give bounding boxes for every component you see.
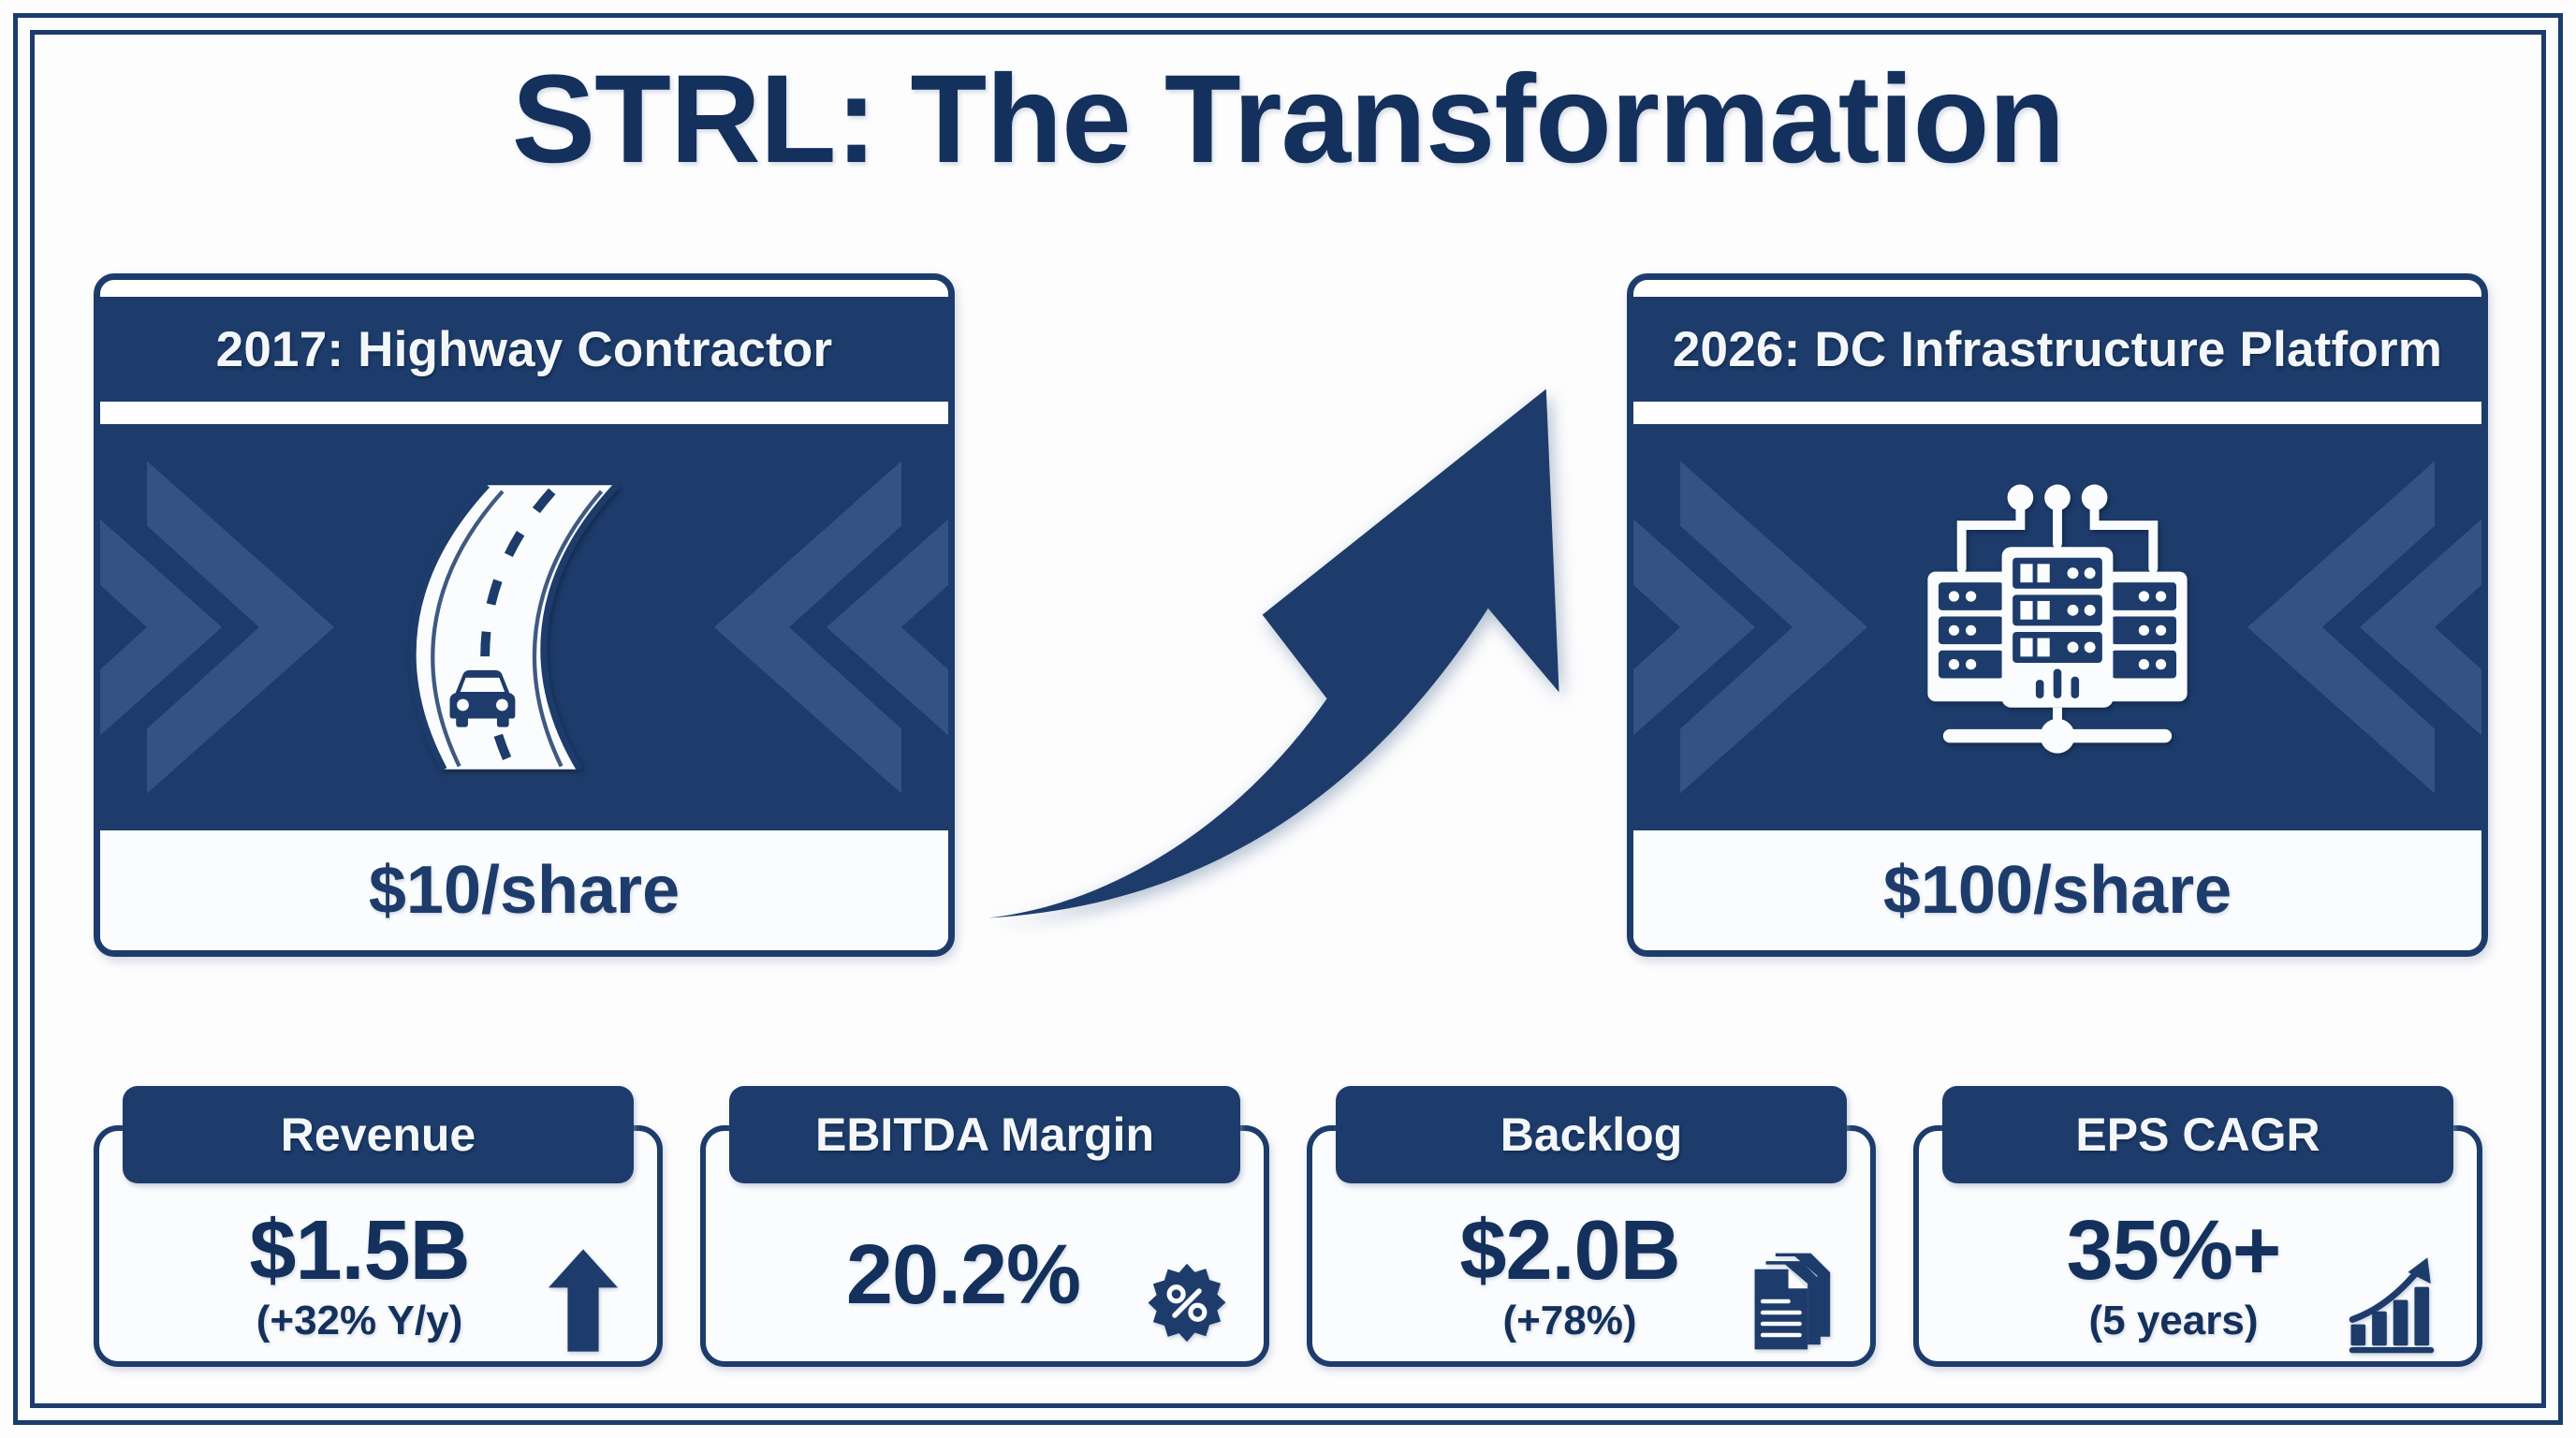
curved-growth-arrow-icon [973, 363, 1629, 944]
stat-label: Revenue [281, 1108, 476, 1162]
panel-header-label: 2026: DC Infrastructure Platform [1673, 321, 2442, 378]
chevron-pattern-left-icon [100, 424, 372, 830]
stat-value: 20.2% [846, 1233, 1080, 1317]
stat-sublabel: (+78%) [1502, 1300, 1636, 1342]
stat-card-header: EBITDA Margin [729, 1086, 1240, 1183]
infographic-poster: STRL: The Transformation 2017: Highway C… [0, 0, 2576, 1438]
panel-body-2017 [100, 424, 948, 830]
stat-card-revenue[interactable]: Revenue $1.5B (+32% Y/y) [94, 1086, 663, 1367]
document-stack-icon [1747, 1249, 1837, 1354]
panel-header-2026: 2026: DC Infrastructure Platform [1633, 297, 2481, 402]
panel-header-label: 2017: Highway Contractor [216, 321, 833, 378]
chevron-pattern-right-icon [677, 424, 948, 830]
stat-card-eps-cagr[interactable]: EPS CAGR 35%+ (5 years) [1913, 1086, 2482, 1367]
panel-header-2017: 2017: Highway Contractor [100, 297, 948, 402]
stat-label: Backlog [1500, 1108, 1683, 1162]
state-panel-2017: 2017: Highway Contractor [94, 273, 955, 957]
page-title: STRL: The Transformation [0, 54, 2576, 186]
stat-value: $1.5B [249, 1209, 469, 1293]
stat-label: EPS CAGR [2075, 1108, 2320, 1162]
highway-road-with-car-icon [370, 473, 679, 782]
stat-card-ebitda-margin[interactable]: EBITDA Margin 20.2% [700, 1086, 1269, 1367]
data-center-server-racks-icon [1903, 473, 2212, 782]
chevron-pattern-left-icon [1633, 424, 1905, 830]
panel-footer-2017: $10/share [100, 830, 948, 950]
stat-value: 35%+ [2067, 1209, 2281, 1293]
gear-percent-icon [1138, 1255, 1236, 1352]
chevron-pattern-right-icon [2210, 424, 2481, 830]
stat-sublabel: (+32% Y/y) [256, 1300, 463, 1342]
stat-card-header: EPS CAGR [1942, 1086, 2453, 1183]
panel-body-2026 [1633, 424, 2481, 830]
stat-card-header: Revenue [123, 1086, 634, 1183]
panel-footer-2026: $100/share [1633, 830, 2481, 950]
stat-card-header: Backlog [1336, 1086, 1847, 1183]
stat-value: $2.0B [1459, 1209, 1679, 1293]
stat-label: EBITDA Margin [815, 1108, 1154, 1162]
up-arrow-icon [547, 1247, 620, 1354]
growth-bar-chart-icon [2346, 1253, 2451, 1354]
stat-card-backlog[interactable]: Backlog $2.0B (+78%) [1307, 1086, 1876, 1367]
stat-card-row: Revenue $1.5B (+32% Y/y) EBITDA Margin [94, 1086, 2482, 1386]
panel-footer-value: $100/share [1883, 852, 2232, 929]
state-panel-2026: 2026: DC Infrastructure Platform [1627, 273, 2488, 957]
panel-footer-value: $10/share [369, 852, 680, 929]
stat-sublabel: (5 years) [2088, 1300, 2258, 1342]
